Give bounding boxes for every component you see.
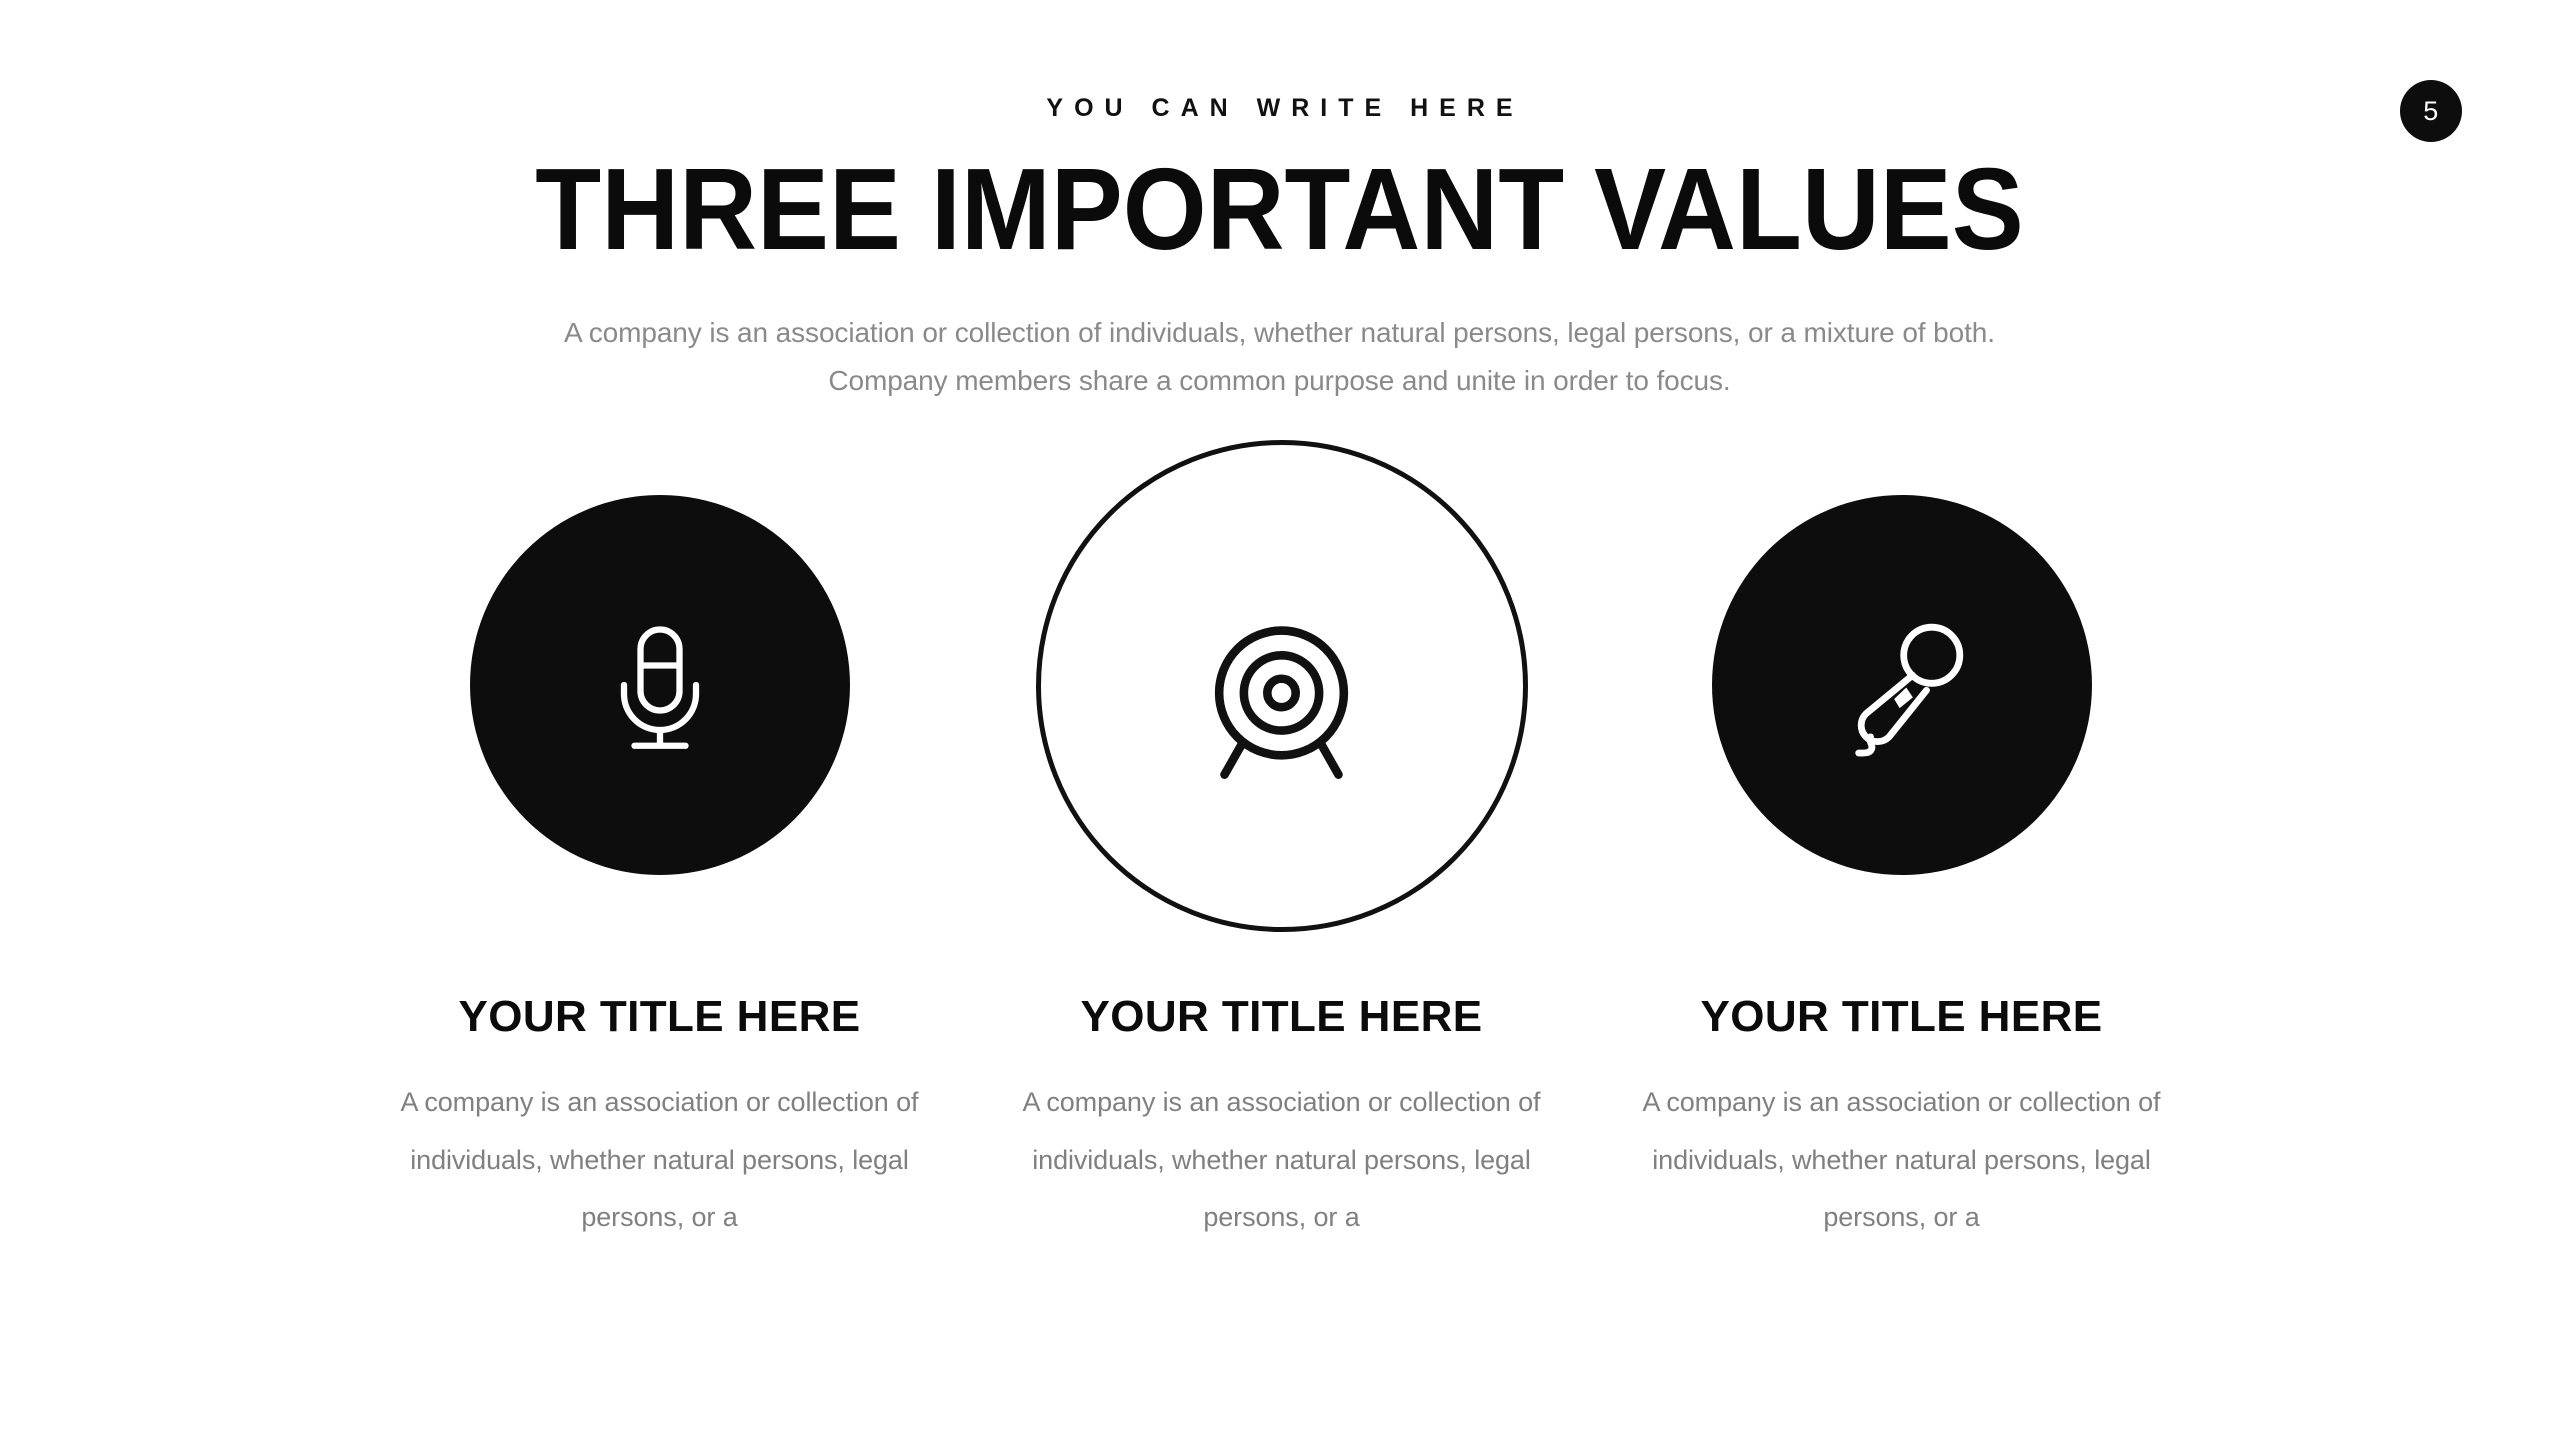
value-icon-badge-1[interactable]: [470, 495, 850, 875]
page-title: THREE IMPORTANT VALUES: [90, 149, 2470, 271]
slide-header: YOU CAN WRITE HERE THREE IMPORTANT VALUE…: [0, 0, 2559, 405]
value-card-title-2: YOUR TITLE HERE: [1080, 995, 1482, 1039]
value-card-body-3: A company is an association or collectio…: [1642, 1074, 2162, 1247]
target-bullseye-icon: [1174, 579, 1389, 794]
value-card-1[interactable]: YOUR TITLE HERE A company is an associat…: [350, 440, 970, 1247]
slide-canvas: 5 YOU CAN WRITE HERE THREE IMPORTANT VAL…: [0, 0, 2559, 1440]
value-card-2[interactable]: YOUR TITLE HERE A company is an associat…: [972, 440, 1592, 1247]
microphone-stand-icon: [585, 610, 735, 760]
values-column-group: YOUR TITLE HERE A company is an associat…: [0, 440, 2559, 1247]
value-card-title-3: YOUR TITLE HERE: [1700, 995, 2102, 1039]
subtitle-line-2: Company members share a common purpose a…: [520, 357, 2040, 405]
handheld-microphone-icon: [1817, 600, 1987, 770]
slide-subtitle: A company is an association or collectio…: [520, 309, 2040, 405]
subtitle-line-1: A company is an association or collectio…: [520, 309, 2040, 357]
value-icon-badge-3[interactable]: [1712, 495, 2092, 875]
value-card-3[interactable]: YOUR TITLE HERE A company is an associat…: [1592, 440, 2212, 1247]
value-card-body-2: A company is an association or collectio…: [1022, 1074, 1542, 1247]
value-card-body-1: A company is an association or collectio…: [400, 1074, 920, 1247]
value-card-title-1: YOUR TITLE HERE: [458, 995, 860, 1039]
value-icon-badge-2[interactable]: [1036, 440, 1528, 932]
eyebrow-text: YOU CAN WRITE HERE: [0, 96, 2559, 121]
